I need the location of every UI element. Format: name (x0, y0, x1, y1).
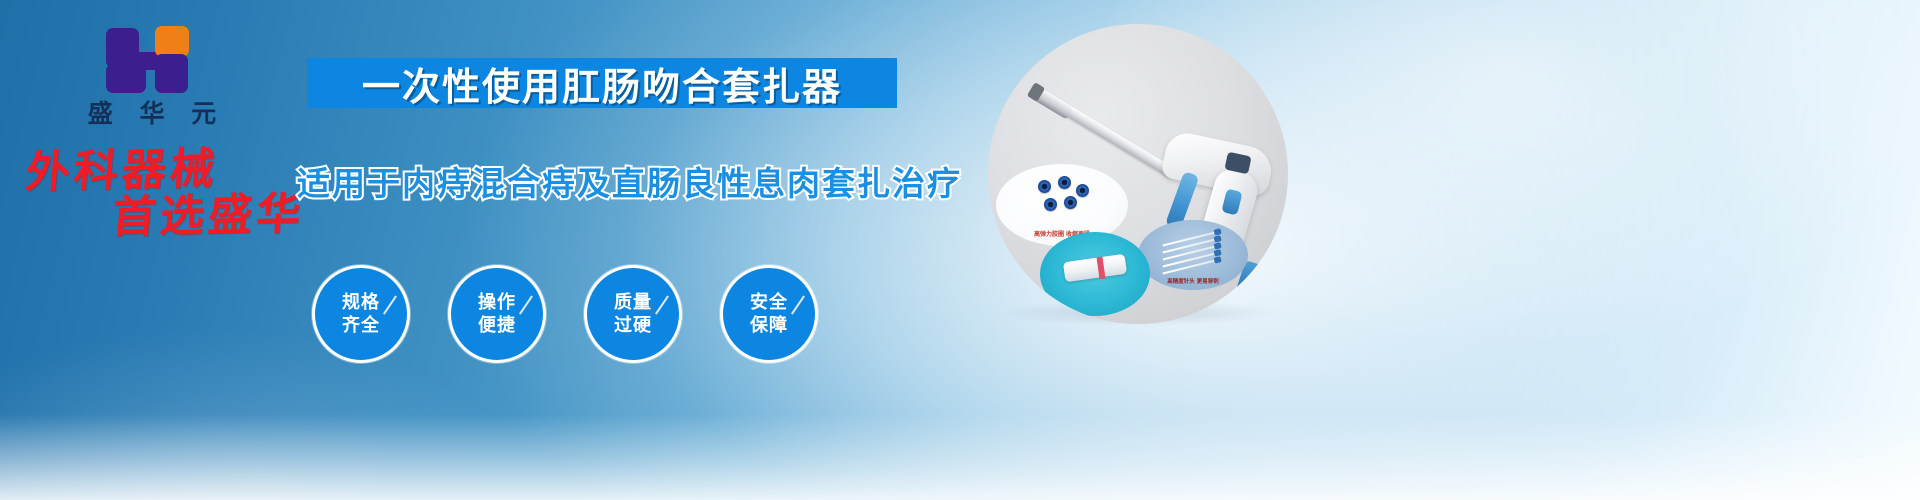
feature-badge-specs-line2: 齐全 (342, 314, 380, 337)
slash-decoration-icon (791, 295, 805, 314)
inset-needles-caption: 高精度针头 更易穿刺 (1138, 277, 1248, 285)
feature-badge-safety-line1: 安全 (750, 291, 788, 314)
ligation-ring-icon (1038, 180, 1051, 193)
slash-decoration-icon (383, 295, 397, 314)
slash-decoration-icon (655, 295, 669, 314)
slash-decoration-icon (519, 295, 533, 314)
feature-badge-safety-line2: 保障 (750, 314, 788, 337)
feature-badge-operation-line1: 操作 (478, 291, 516, 314)
feature-badges: 规格 齐全 操作 便捷 质量 过硬 安全 保障 (312, 265, 818, 363)
ligation-ring-icon (1076, 184, 1089, 197)
promo-banner: 盛 华 元 外科器械 首选盛华 一次性使用肛肠吻合套扎器 适用于内痔混合痔及直肠… (0, 0, 1920, 500)
product-photo[interactable]: 高弹力胶圈 收缩更紧 高精度针头 更易穿刺 (988, 24, 1288, 324)
feature-badge-quality-line2: 过硬 (614, 314, 652, 337)
feature-badge-quality[interactable]: 质量 过硬 (584, 265, 682, 363)
feature-badge-quality-line1: 质量 (614, 291, 652, 314)
bottom-fade-overlay (0, 414, 1920, 500)
ligation-ring-icon (1044, 198, 1057, 211)
feature-badge-operation-line2: 便捷 (478, 314, 516, 337)
inset-photo-tube (1040, 232, 1150, 316)
needle-icon (1163, 259, 1216, 274)
feature-badge-operation[interactable]: 操作 便捷 (448, 265, 546, 363)
ligation-ring-icon (1064, 196, 1077, 209)
brand-name: 盛 华 元 (62, 100, 242, 128)
ligation-ring-icon (1058, 176, 1071, 189)
feature-badge-safety[interactable]: 安全 保障 (720, 265, 818, 363)
feature-badge-specs[interactable]: 规格 齐全 (312, 265, 410, 363)
logo-blocks-icon (106, 26, 198, 94)
headline-text: 一次性使用肛肠吻合套扎器 (362, 56, 842, 111)
feature-badge-specs-line1: 规格 (342, 291, 380, 314)
inset-photo-needles: 高精度针头 更易穿刺 (1138, 220, 1248, 290)
headline-bar: 一次性使用肛肠吻合套扎器 (307, 58, 897, 108)
anoscope-tube-icon (1063, 254, 1127, 282)
brand-logo[interactable]: 盛 华 元 (62, 26, 242, 128)
subheadline-text: 适用于内痔混合痔及直肠良性息肉套扎治疗 (297, 157, 907, 205)
